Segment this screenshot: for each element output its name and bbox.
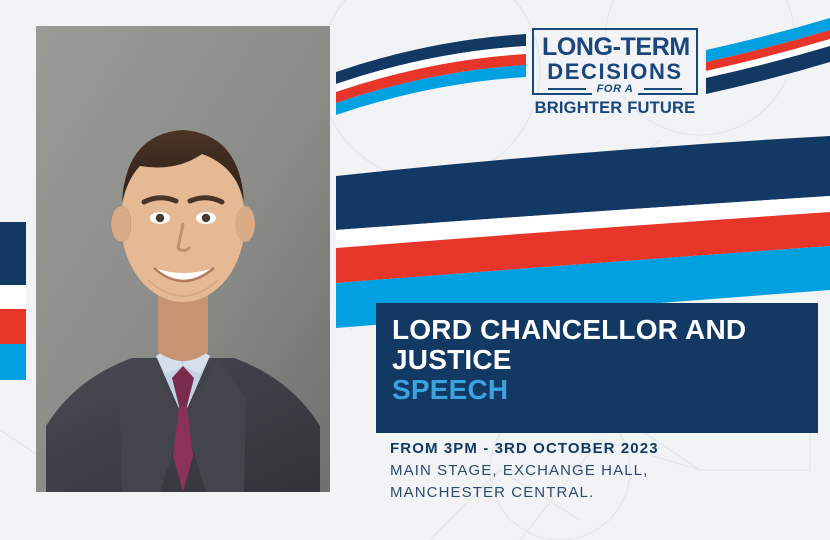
logo-line-long-term: LONG-TERM: [542, 35, 688, 60]
event-date-time: FROM 3PM - 3RD OCTOBER 2023: [390, 440, 810, 457]
ribbon-top-right: [706, 18, 830, 94]
campaign-logo: LONG-TERM DECISIONS FOR A BRIGHTER FUTUR…: [532, 28, 698, 118]
edge-stripe-red: [0, 309, 26, 344]
title-line-2: JUSTICE: [392, 345, 818, 375]
edge-stripe-light-blue: [0, 344, 26, 380]
ribbon-edge-left: [0, 222, 26, 380]
edge-stripe-white: [0, 285, 26, 309]
logo-rule-right: [644, 88, 682, 90]
event-venue-line-1: MAIN STAGE, EXCHANGE HALL,: [390, 462, 810, 479]
event-details: FROM 3PM - 3RD OCTOBER 2023 MAIN STAGE, …: [390, 440, 810, 501]
ribbon-main-band: [336, 136, 830, 328]
logo-divider-row: FOR A: [532, 83, 698, 95]
title-line-1: LORD CHANCELLOR AND: [392, 315, 818, 345]
ribbon-top-left: [336, 34, 526, 115]
poster-canvas: LONG-TERM DECISIONS FOR A BRIGHTER FUTUR…: [0, 0, 830, 540]
logo-line-brighter-future: BRIGHTER FUTURE: [532, 99, 698, 118]
edge-stripe-navy: [0, 222, 26, 285]
title-line-3-speech: SPEECH: [392, 375, 818, 405]
portrait-illustration: [36, 26, 330, 492]
title-panel: LORD CHANCELLOR AND JUSTICE SPEECH: [376, 303, 818, 433]
logo-line-decisions: DECISIONS: [542, 60, 688, 84]
logo-rule-left: [548, 88, 586, 90]
logo-divider-for-a: FOR A: [592, 83, 639, 95]
event-venue-line-2: MANCHESTER CENTRAL.: [390, 484, 810, 501]
title-inner: LORD CHANCELLOR AND JUSTICE SPEECH: [376, 303, 818, 406]
speaker-portrait-photo: [36, 26, 330, 492]
